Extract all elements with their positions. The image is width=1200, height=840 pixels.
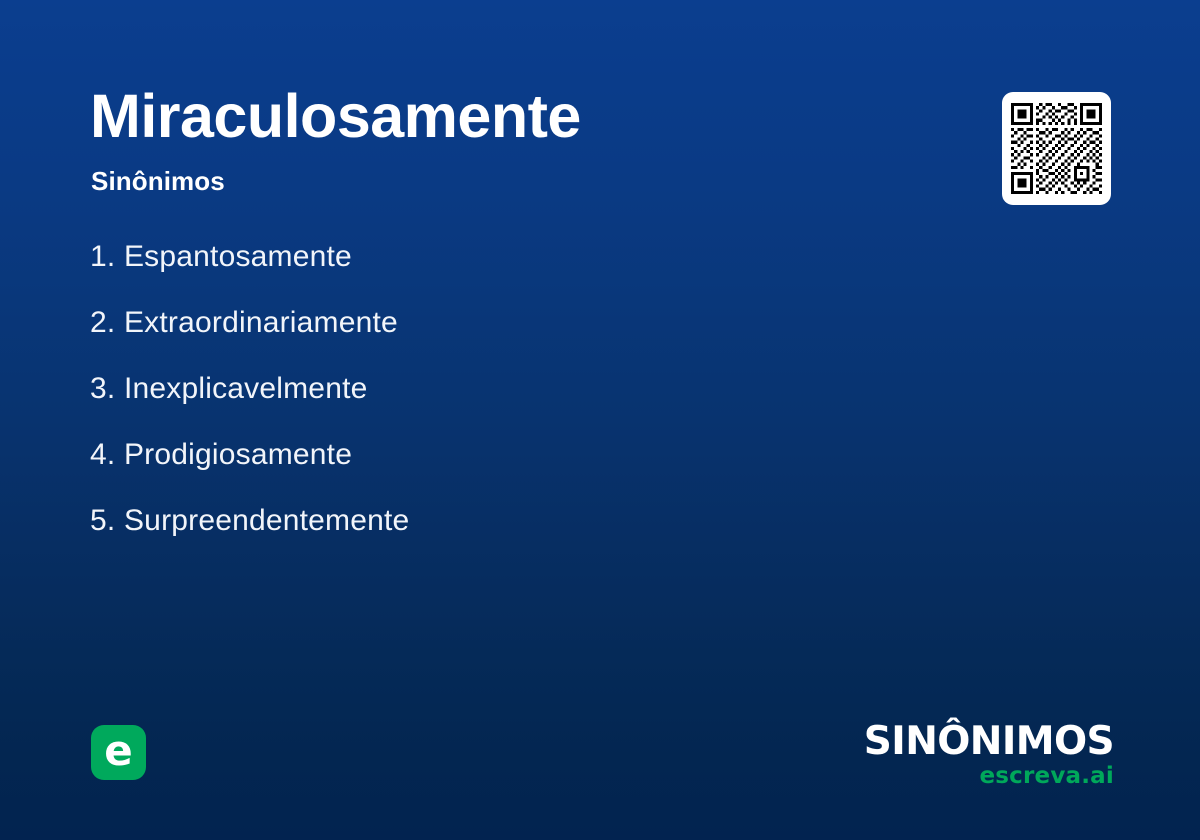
list-item-label: Extraordinariamente <box>124 306 398 339</box>
brand-name: SINÔNIMOS <box>864 722 1114 761</box>
list-item: 3. Inexplicavelmente <box>90 370 890 408</box>
qr-code-icon <box>1011 103 1102 194</box>
list-item: 4. Prodigiosamente <box>90 436 890 474</box>
list-item-label: Inexplicavelmente <box>124 372 368 405</box>
qr-code-card[interactable] <box>1002 92 1111 205</box>
list-item-label: Espantosamente <box>124 240 352 273</box>
escreva-app-icon: e <box>91 725 146 780</box>
list-item-index: 4. <box>90 438 115 471</box>
synonym-list: 1. Espantosamente 2. Extraordinariamente… <box>90 238 890 540</box>
list-item-index: 5. <box>90 504 115 537</box>
escreva-app-icon-letter: e <box>104 730 133 772</box>
synonym-card: Miraculosamente Sinônimos <box>0 0 1200 840</box>
card-content: Miraculosamente Sinônimos <box>0 0 1200 840</box>
brand-lockup: SINÔNIMOS escreva.ai <box>864 722 1114 788</box>
list-item: 1. Espantosamente <box>90 238 890 276</box>
page-title: Miraculosamente <box>90 86 581 147</box>
list-item: 2. Extraordinariamente <box>90 304 890 342</box>
brand-domain: escreva.ai <box>864 765 1114 788</box>
page-subtitle: Sinônimos <box>91 168 225 194</box>
list-item: 5. Surpreendentemente <box>90 502 890 540</box>
list-item-label: Surpreendentemente <box>124 504 409 537</box>
list-item-index: 1. <box>90 240 115 273</box>
list-item-label: Prodigiosamente <box>124 438 352 471</box>
list-item-index: 2. <box>90 306 115 339</box>
list-item-index: 3. <box>90 372 115 405</box>
